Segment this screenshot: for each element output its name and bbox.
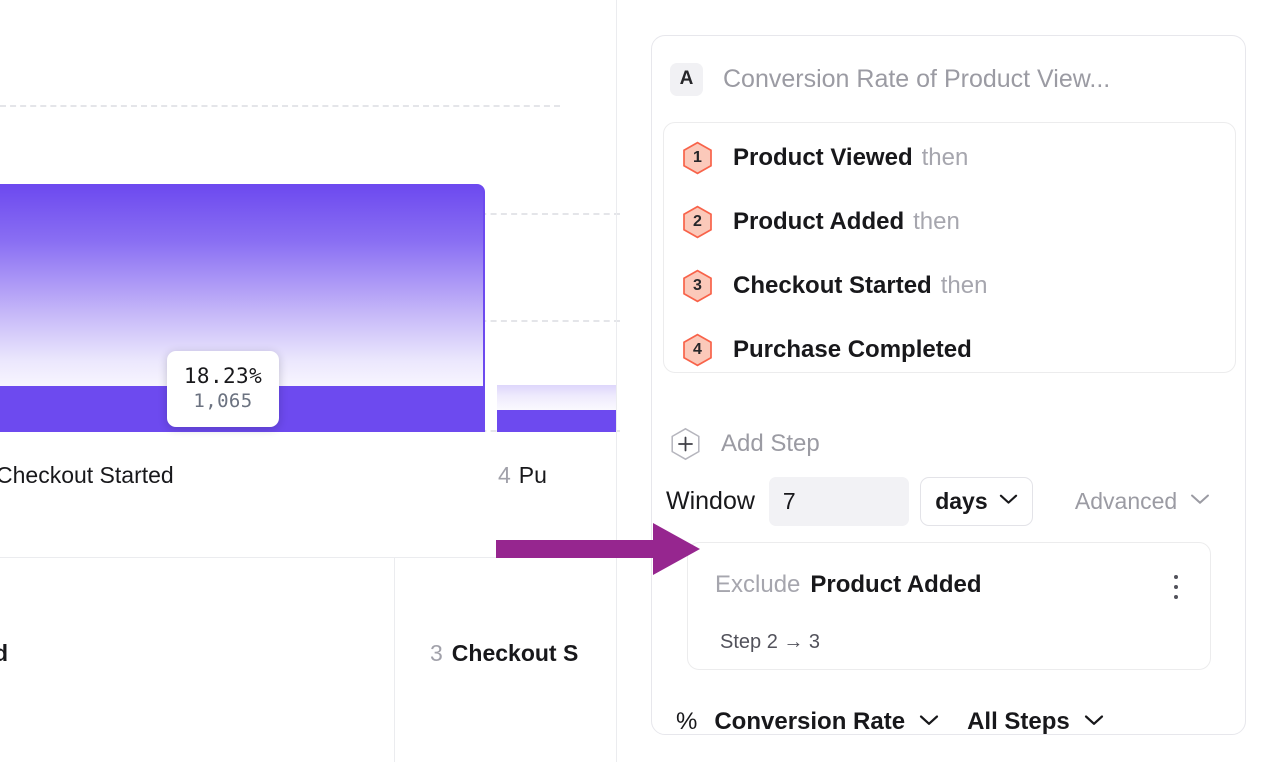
funnel-chart-pane: 18.23% 1,065 Checkout Started 4Pu d [0,0,617,762]
chart-gridline [0,105,560,107]
funnel-steps-container: 1 Product Viewed then 2 Product Added th… [663,122,1236,373]
chart-gridline [470,320,620,322]
step-number-text: 1 [682,141,713,175]
advanced-label: Advanced [1075,488,1177,515]
bottom-card-step-number: 3 [430,640,443,666]
kebab-dot [1174,595,1178,599]
window-unit-value: days [935,488,987,515]
step-event-label: Purchase Completed [733,336,972,364]
step-number-hex-icon: 3 [682,269,713,303]
chevron-down-icon [1084,713,1104,731]
conversion-window-row: Window days Advanced [666,476,1236,526]
exclusion-step-range: Step 2 → 3 [720,631,820,654]
metric-type-dropdown[interactable]: Conversion Rate [714,708,939,736]
percent-icon: % [676,708,697,736]
step-number-text: 3 [682,269,713,303]
funnel-metric-row: % Conversion Rate All Steps [676,708,1104,736]
bottom-cards-strip: d 3Checkout S [0,558,617,762]
step-number-hex-icon: 1 [682,141,713,175]
x-axis-label-purchase-completed: 4Pu [498,462,547,489]
bar-solid-base [497,410,617,432]
funnel-step-3[interactable]: 3 Checkout Started then [682,268,987,304]
x-axis-label-text: Checkout Started [0,462,174,488]
funnel-bar-purchase-completed[interactable] [497,385,617,432]
step-number-text: 2 [682,205,713,239]
funnel-card-header: A Conversion Rate of Product View... [652,36,1247,122]
step-event-label: Product Added [733,208,904,236]
step-number-hex-icon: 4 [682,333,713,367]
step-connector-label: then [913,208,960,236]
chevron-down-icon [999,492,1018,510]
x-axis-label-checkout-started: Checkout Started [0,462,174,489]
kebab-dot [1174,575,1178,579]
bottom-card-title-right: 3Checkout S [430,640,578,667]
step-event-label: Checkout Started [733,272,932,300]
bottom-card-divider [394,558,395,762]
window-unit-select[interactable]: days [920,477,1033,526]
advanced-options-dropdown[interactable]: Advanced [1075,488,1210,515]
chart-tooltip: 18.23% 1,065 [167,351,279,427]
app-root: 18.23% 1,065 Checkout Started 4Pu d [0,0,1264,762]
series-letter-chip: A [670,63,703,96]
step-connector-label: then [941,272,988,300]
funnel-step-1[interactable]: 1 Product Viewed then [682,140,968,176]
step-connector-label: then [922,144,969,172]
steps-scope-dropdown[interactable]: All Steps [967,708,1104,736]
window-value-input[interactable] [769,477,909,526]
x-axis-label-text: Pu [519,462,547,488]
exclusion-card[interactable]: Exclude Product Added Step 2 → 3 [687,542,1211,670]
window-label: Window [666,487,755,516]
funnel-step-4[interactable]: 4 Purchase Completed [682,332,981,368]
exclusion-more-options-icon[interactable] [1166,571,1186,603]
bar-gradient-body [497,385,617,410]
funnel-config-card: A Conversion Rate of Product View... 1 P… [651,35,1246,735]
step-number-hex-icon: 2 [682,205,713,239]
bottom-card-title-text: d [0,640,8,666]
chevron-down-icon [919,713,939,731]
chevron-down-icon [1190,492,1210,510]
funnel-step-2[interactable]: 2 Product Added then [682,204,960,240]
chart-gridline [470,213,620,215]
bottom-card-title-left: d [0,640,8,667]
exclusion-title-line: Exclude Product Added [715,571,982,599]
add-step-label: Add Step [721,430,820,458]
exclusion-prefix-label: Exclude [715,571,800,599]
bottom-card-title-text: Checkout S [452,640,579,666]
steps-scope-value: All Steps [967,708,1070,736]
funnel-name-input[interactable]: Conversion Rate of Product View... [723,65,1110,94]
x-axis-step-number: 4 [498,462,511,488]
tooltip-percent: 18.23% [184,364,262,389]
metric-type-value: Conversion Rate [714,708,905,736]
main-vertical-divider [616,0,617,762]
tooltip-count: 1,065 [193,389,252,414]
kebab-dot [1174,585,1178,589]
step-number-text: 4 [682,333,713,367]
step-event-label: Product Viewed [733,144,913,172]
add-step-button[interactable]: Add Step [670,426,820,462]
add-step-hex-plus-icon [670,427,701,461]
exclusion-event-label: Product Added [810,571,981,599]
